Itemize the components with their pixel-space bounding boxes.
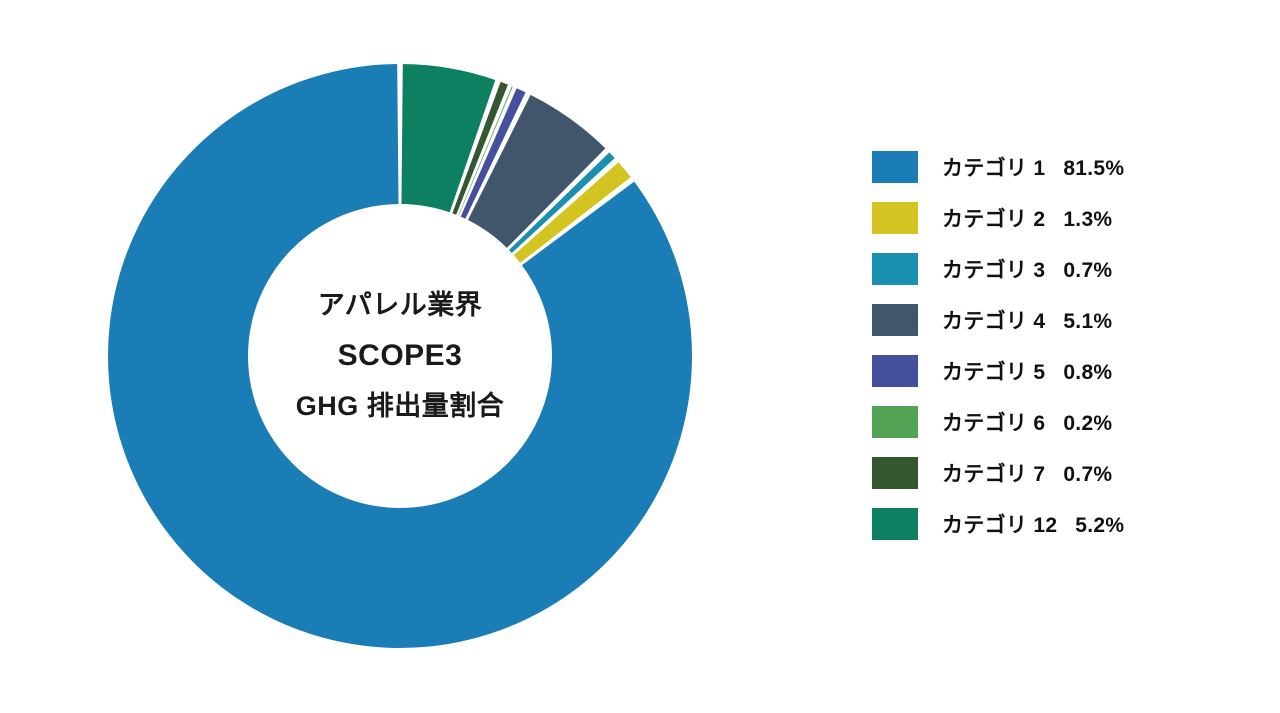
legend-color-swatch bbox=[872, 304, 918, 336]
legend-label: カテゴリ 5 bbox=[942, 356, 1045, 386]
legend-color-swatch bbox=[872, 253, 918, 285]
legend-item[interactable]: カテゴリ 125.2% bbox=[872, 507, 1232, 541]
legend-label: カテゴリ 3 bbox=[942, 254, 1045, 284]
legend-text: カテゴリ 50.8% bbox=[942, 356, 1112, 386]
legend-label: カテゴリ 1 bbox=[942, 152, 1045, 182]
legend-label: カテゴリ 4 bbox=[942, 305, 1045, 335]
legend-text: カテゴリ 21.3% bbox=[942, 203, 1112, 233]
legend-value: 5.1% bbox=[1063, 310, 1112, 334]
legend-value: 0.7% bbox=[1063, 463, 1112, 487]
donut-slice[interactable] bbox=[108, 64, 692, 648]
legend-item[interactable]: カテゴリ 50.8% bbox=[872, 354, 1232, 388]
legend-text: カテゴリ 60.2% bbox=[942, 407, 1112, 437]
legend-text: カテゴリ 30.7% bbox=[942, 254, 1112, 284]
legend-label: カテゴリ 2 bbox=[942, 203, 1045, 233]
legend-item[interactable]: カテゴリ 45.1% bbox=[872, 303, 1232, 337]
donut-slices bbox=[108, 64, 692, 648]
legend-value: 81.5% bbox=[1063, 157, 1124, 181]
legend-text: カテゴリ 181.5% bbox=[942, 152, 1124, 182]
legend-text: カテゴリ 70.7% bbox=[942, 458, 1112, 488]
legend-color-swatch bbox=[872, 508, 918, 540]
legend-color-swatch bbox=[872, 202, 918, 234]
legend-item[interactable]: カテゴリ 30.7% bbox=[872, 252, 1232, 286]
legend-label: カテゴリ 7 bbox=[942, 458, 1045, 488]
legend-value: 0.2% bbox=[1063, 412, 1112, 436]
legend-text: カテゴリ 45.1% bbox=[942, 305, 1112, 335]
legend-item[interactable]: カテゴリ 60.2% bbox=[872, 405, 1232, 439]
legend-label: カテゴリ 12 bbox=[942, 509, 1057, 539]
donut-svg bbox=[104, 60, 696, 652]
chart-legend: カテゴリ 181.5%カテゴリ 21.3%カテゴリ 30.7%カテゴリ 45.1… bbox=[872, 150, 1232, 558]
legend-text: カテゴリ 125.2% bbox=[942, 509, 1124, 539]
legend-item[interactable]: カテゴリ 21.3% bbox=[872, 201, 1232, 235]
legend-color-swatch bbox=[872, 406, 918, 438]
legend-value: 0.8% bbox=[1063, 361, 1112, 385]
legend-item[interactable]: カテゴリ 70.7% bbox=[872, 456, 1232, 490]
legend-item[interactable]: カテゴリ 181.5% bbox=[872, 150, 1232, 184]
legend-color-swatch bbox=[872, 151, 918, 183]
legend-color-swatch bbox=[872, 355, 918, 387]
legend-color-swatch bbox=[872, 457, 918, 489]
donut-chart-figure: アパレル業界 SCOPE3 GHG 排出量割合 カテゴリ 181.5%カテゴリ … bbox=[0, 0, 1280, 713]
legend-value: 5.2% bbox=[1075, 514, 1124, 538]
donut-chart-plot bbox=[104, 60, 696, 652]
legend-label: カテゴリ 6 bbox=[942, 407, 1045, 437]
legend-value: 0.7% bbox=[1063, 259, 1112, 283]
legend-value: 1.3% bbox=[1063, 208, 1112, 232]
